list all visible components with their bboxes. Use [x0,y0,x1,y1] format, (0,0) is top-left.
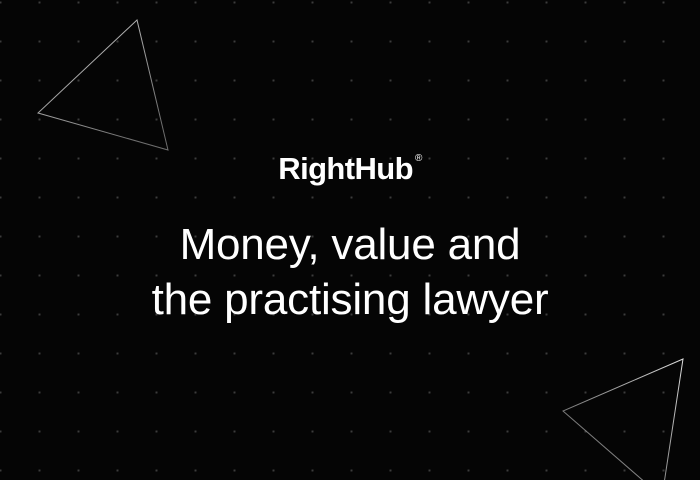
brand-logo: RightHub® [278,153,421,184]
page-title-line-2: the practising lawyer [152,273,549,328]
content-block: RightHub® Money, value and the practisin… [0,0,700,480]
registered-trademark-icon: ® [415,154,422,164]
title-card: RightHub® Money, value and the practisin… [0,0,700,480]
brand-name: RightHub [278,153,413,184]
page-title-line-1: Money, value and [152,218,549,273]
page-title: Money, value and the practising lawyer [152,218,549,327]
